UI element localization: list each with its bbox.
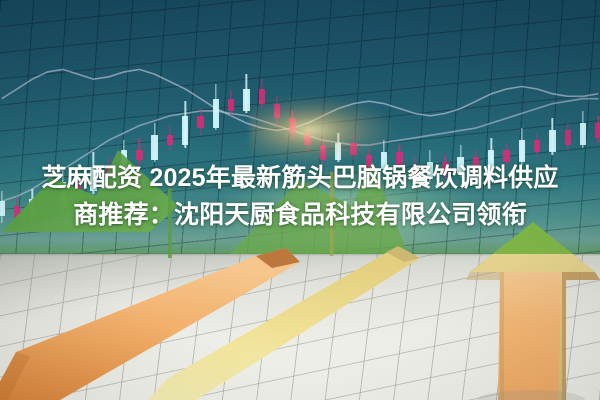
arrow-orange-shaft xyxy=(0,248,300,400)
arrow-right-main xyxy=(466,222,600,400)
headline-text: 芝麻配资 2025年最新筋头巴脑锅餐饮调料供应 商推荐：沈阳天厨食品科技有限公司… xyxy=(0,160,600,234)
headline-line-1: 芝麻配资 2025年最新筋头巴脑锅餐饮调料供应 xyxy=(0,160,600,197)
headline-line-2: 商推荐：沈阳天厨食品科技有限公司领衔 xyxy=(0,197,600,234)
banner-image: 芝麻配资 2025年最新筋头巴脑锅餐饮调料供应 商推荐：沈阳天厨食品科技有限公司… xyxy=(0,0,600,400)
